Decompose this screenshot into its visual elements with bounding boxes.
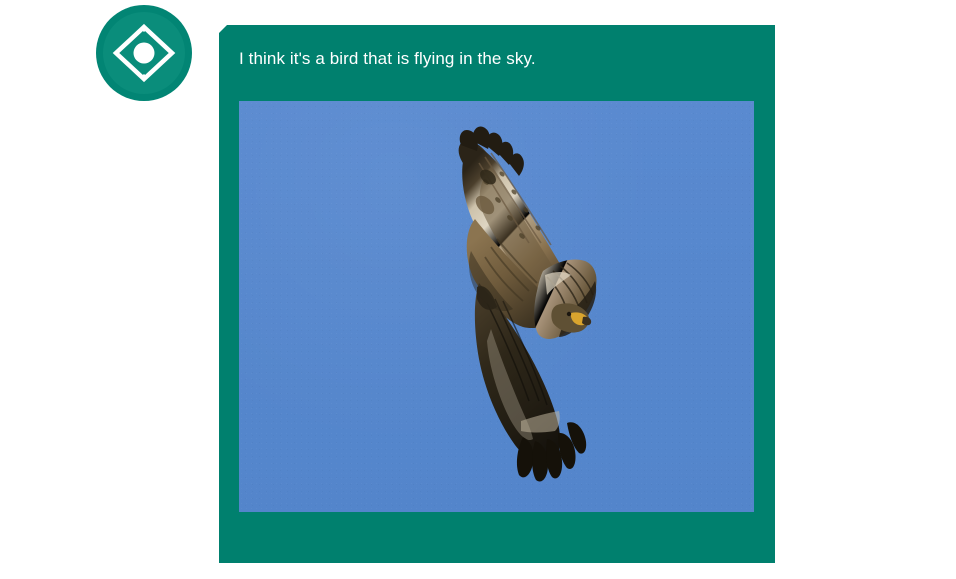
assistant-message-bubble: I think it's a bird that is flying in th… [219,25,775,563]
assistant-message-text: I think it's a bird that is flying in th… [239,48,755,70]
bird-illustration [239,101,754,512]
assistant-avatar [96,5,192,101]
eye-diamond-icon [106,15,182,91]
attached-image[interactable] [239,101,754,512]
